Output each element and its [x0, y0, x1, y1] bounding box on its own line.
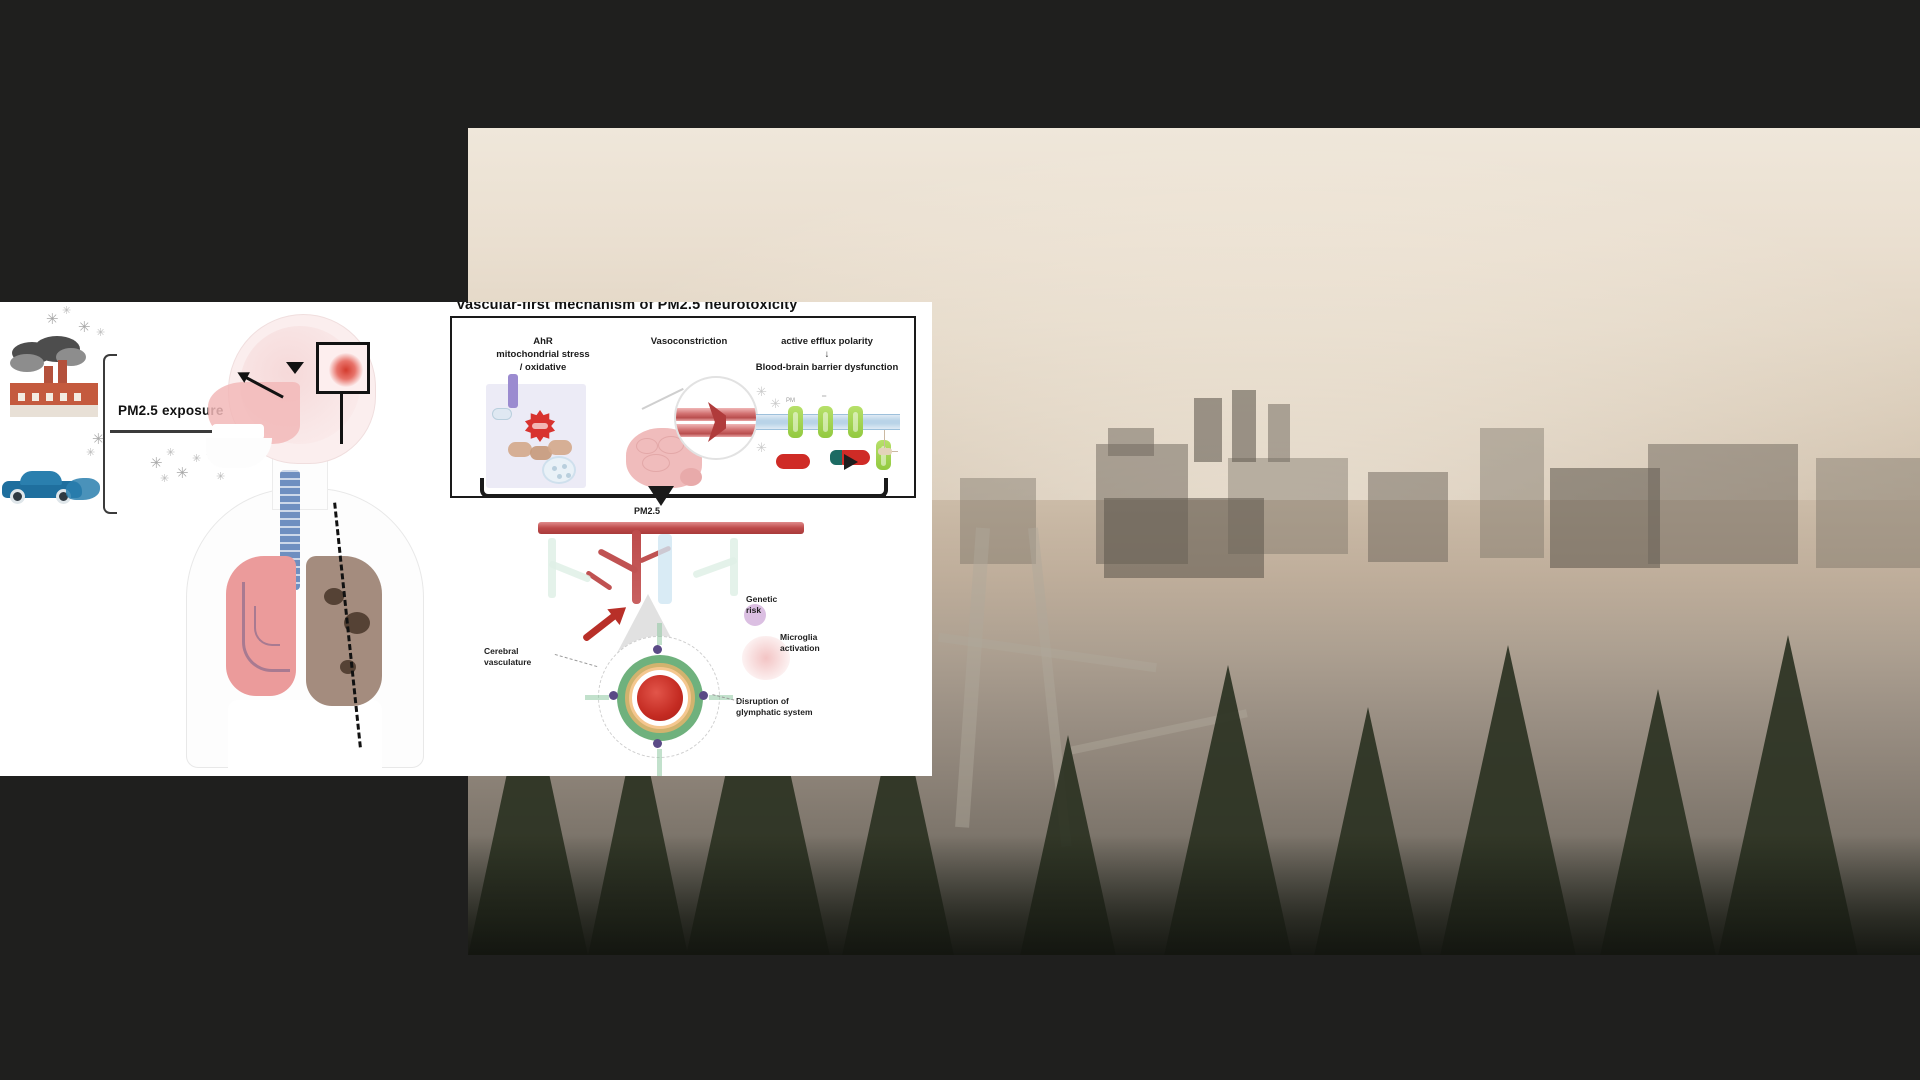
flow-down-arrow [648, 486, 674, 506]
transport-arrow [844, 454, 858, 470]
building [1480, 428, 1544, 558]
panel-vaso-label: Vasoconstriction [651, 336, 728, 347]
building [1648, 444, 1798, 564]
building [1816, 458, 1920, 568]
efflux-transporter [788, 406, 803, 438]
label-line: vasculature [484, 657, 531, 667]
nucleus [542, 456, 576, 484]
panel-ahr-label-2: mitochondrial stress [496, 349, 589, 360]
efflux-hook [884, 430, 898, 452]
exhaust-plume-icon [66, 478, 100, 500]
tower [1232, 390, 1256, 462]
label-line: activation [780, 643, 820, 653]
label-microglia-activation: Microglia activation [780, 632, 860, 655]
panel-bbb: active efflux polarity ↓ Blood-brain bar… [752, 336, 902, 496]
building [1368, 472, 1448, 562]
receptor-icon [508, 374, 518, 408]
label-line: Microglia [780, 632, 817, 642]
mitochondrion [508, 442, 532, 457]
label-glymphatic-disruption: Disruption of glymphatic system [736, 696, 846, 719]
mechanism-card: Vascular-first mechanism of PM2.5 neurot… [452, 302, 932, 776]
vesicle-cap [830, 450, 842, 465]
building [1108, 428, 1154, 456]
label-genetic-risk: Genetic risk [746, 594, 816, 617]
pm25-mechanism-figure: ✳ ✳ ✳ ✳ ✳ ✳ ✳ ✳ ✳ ✳ ✳ ✳ ✳ ✳ ✳ PM2.5 expo… [0, 302, 932, 776]
brain-hotspot [329, 353, 363, 387]
capillary-cross-section [598, 636, 720, 758]
building [1104, 498, 1264, 578]
pm25-vessel-label: PM2.5 [602, 506, 692, 516]
mechanism-panels-box: AhR mitochondrial stress / oxidative [450, 316, 916, 498]
building [960, 478, 1036, 564]
panel-bbb-label-2: ↓ [825, 349, 830, 360]
tower [1268, 404, 1290, 462]
vessel-magnifier [674, 376, 758, 460]
panel-ahr-label-3: / oxidative [520, 362, 566, 373]
cerebral-artery [538, 522, 804, 534]
label-line: risk [746, 605, 761, 615]
label-cerebral-vasculature: Cerebral vasculature [484, 646, 554, 669]
brain-magnifier-box [316, 342, 370, 394]
panel-ahr-label-1: AhR [533, 336, 553, 347]
vesicle [776, 454, 810, 469]
tower [1194, 398, 1222, 462]
mitochondrion [548, 440, 572, 455]
panel-bbb-label-1: active efflux polarity [781, 336, 873, 347]
capillary-lumen [637, 675, 683, 721]
panel-vasoconstriction: Vasoconstriction [614, 336, 764, 496]
panel-ahr: AhR mitochondrial stress / oxidative [468, 336, 618, 496]
label-line: Cerebral [484, 646, 519, 656]
neurovascular-unit-figure: PM2.5 [492, 508, 892, 770]
efflux-transporter [818, 406, 833, 438]
human-body-illustration [168, 320, 438, 760]
panel-bbb-label-3: Blood-brain barrier dysfunction [756, 362, 899, 373]
exposure-column: ✳ ✳ ✳ ✳ ✳ ✳ ✳ ✳ ✳ ✳ ✳ ✳ ✳ ✳ ✳ PM2.5 expo… [0, 302, 452, 776]
factory-icon [10, 342, 100, 417]
ligand-icon [492, 408, 512, 420]
source-bracket [103, 354, 117, 514]
photo-bottom-fade [468, 835, 1920, 955]
building [1550, 468, 1660, 568]
brace-bar [496, 494, 886, 498]
efflux-transporter [848, 406, 863, 438]
cell-illustration [486, 384, 586, 488]
mechanism-title: Vascular-first mechanism of PM2.5 neurot… [456, 302, 928, 313]
ros-burst-icon [524, 410, 556, 442]
label-line: Disruption of [736, 696, 789, 706]
label-line: glymphatic system [736, 707, 813, 717]
road [955, 528, 990, 828]
label-line: Genetic [746, 594, 777, 604]
